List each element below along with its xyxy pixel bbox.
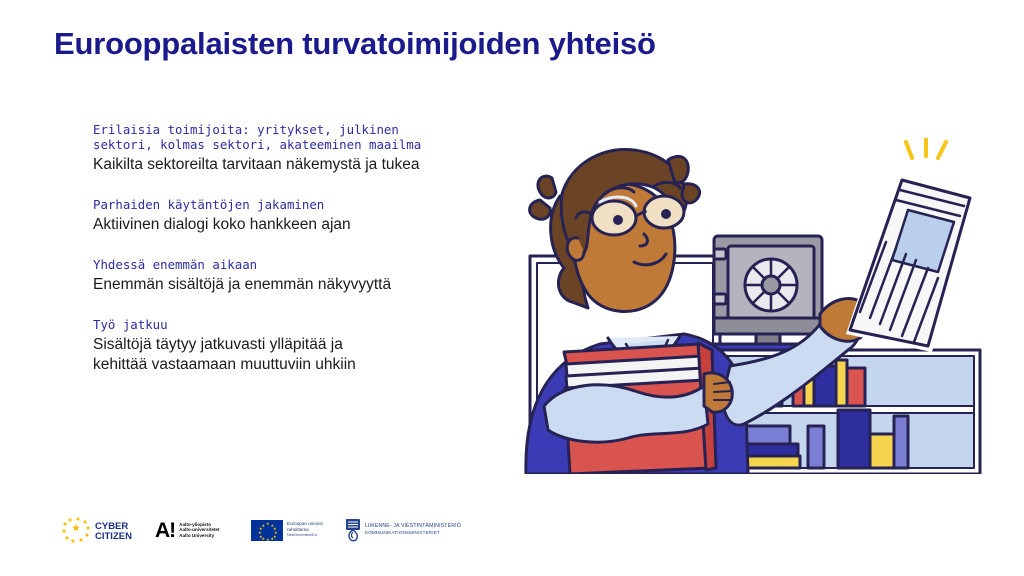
aalto-text: Aalto-yliopisto Aalto-universitetet Aalt… [179, 522, 219, 539]
ministry-line2: KOMMUNIKATIONSMINISTERIET [365, 530, 461, 537]
eu-flag-icon: ★ ★ ★ ★ ★ ★ ★ ★ ★ ★ ★ ★ [251, 520, 283, 541]
content-block: Yhdessä enemmän aikaan Enemmän sisältöjä… [93, 257, 513, 295]
aalto-line3: Aalto University [179, 533, 219, 539]
block-heading-line: Parhaiden käytäntöjen jakaminen [93, 197, 324, 212]
block-heading-line: Työ jatkuu [93, 317, 168, 332]
block-body-line: Kaikilta sektoreilta tarvitaan näkemystä… [93, 156, 420, 173]
logo-bar: CYBER CITIZEN A! Aalto-yliopisto Aalto-u… [57, 513, 461, 547]
block-heading: Yhdessä enemmän aikaan [93, 257, 513, 272]
content-block: Erilaisia toimijoita: yritykset, julkine… [93, 122, 513, 175]
block-body-line: Aktiivinen dialogi koko hankkeen ajan [93, 216, 351, 233]
eu-line3: NextGenerationEU [287, 533, 323, 539]
block-heading: Työ jatkuu [93, 317, 513, 332]
aalto-mark: A! [155, 520, 175, 541]
block-heading: Erilaisia toimijoita: yritykset, julkine… [93, 122, 513, 152]
ministry-text: LIIKENNE- JA VIESTINTÄMINISTERIÖ KOMMUNI… [365, 523, 461, 536]
block-body-line: Enemmän sisältöjä ja enemmän näkyvyyttä [93, 276, 391, 293]
block-body: Sisältöjä täytyy jatkuvasti ylläpitää ja… [93, 335, 513, 375]
block-heading-line: Erilaisia toimijoita: yritykset, julkine… [93, 122, 399, 137]
content-block: Työ jatkuu Sisältöjä täytyy jatkuvasti y… [93, 317, 513, 375]
block-heading-line: sektori, kolmas sektori, akateeminen maa… [93, 137, 421, 152]
finnish-lion-crest-icon [345, 518, 361, 542]
content-text-column: Erilaisia toimijoita: yritykset, julkine… [93, 122, 513, 375]
block-body-line: Sisältöjä täytyy jatkuvasti ylläpitää ja [93, 336, 343, 353]
block-body: Aktiivinen dialogi koko hankkeen ajan [93, 215, 513, 235]
content-block: Parhaiden käytäntöjen jakaminen Aktiivin… [93, 197, 513, 235]
logo-aalto-university: A! Aalto-yliopisto Aalto-universitetet A… [155, 514, 245, 546]
document-illustration [846, 172, 976, 352]
block-body: Enemmän sisältöjä ja enemmän näkyvyyttä [93, 275, 513, 295]
page-title: Eurooppalaisten turvatoimijoiden yhteisö [54, 26, 656, 62]
block-heading-line: Yhdessä enemmän aikaan [93, 257, 257, 272]
logo-ministry-transport-communications: LIIKENNE- JA VIESTINTÄMINISTERIÖ KOMMUNI… [345, 514, 461, 546]
safe-illustration [714, 236, 822, 351]
sparkle-icon [906, 138, 946, 158]
cyber-citizen-line2: CITIZEN [95, 531, 132, 542]
block-body: Kaikilta sektoreilta tarvitaan näkemystä… [93, 155, 513, 175]
block-heading: Parhaiden käytäntöjen jakaminen [93, 197, 513, 212]
logo-cyber-citizen: CYBER CITIZEN [57, 514, 149, 546]
eu-text: Euroopan unionin rahoittama NextGenerati… [287, 521, 323, 538]
illustration-person-with-books [508, 138, 988, 474]
ministry-line1: LIIKENNE- JA VIESTINTÄMINISTERIÖ [365, 523, 461, 530]
logo-european-union: ★ ★ ★ ★ ★ ★ ★ ★ ★ ★ ★ ★ Euroopan unionin… [251, 514, 339, 546]
block-body-line: kehittää vastaamaan muuttuviin uhkiin [93, 356, 356, 373]
star-arc-icon [62, 517, 89, 542]
